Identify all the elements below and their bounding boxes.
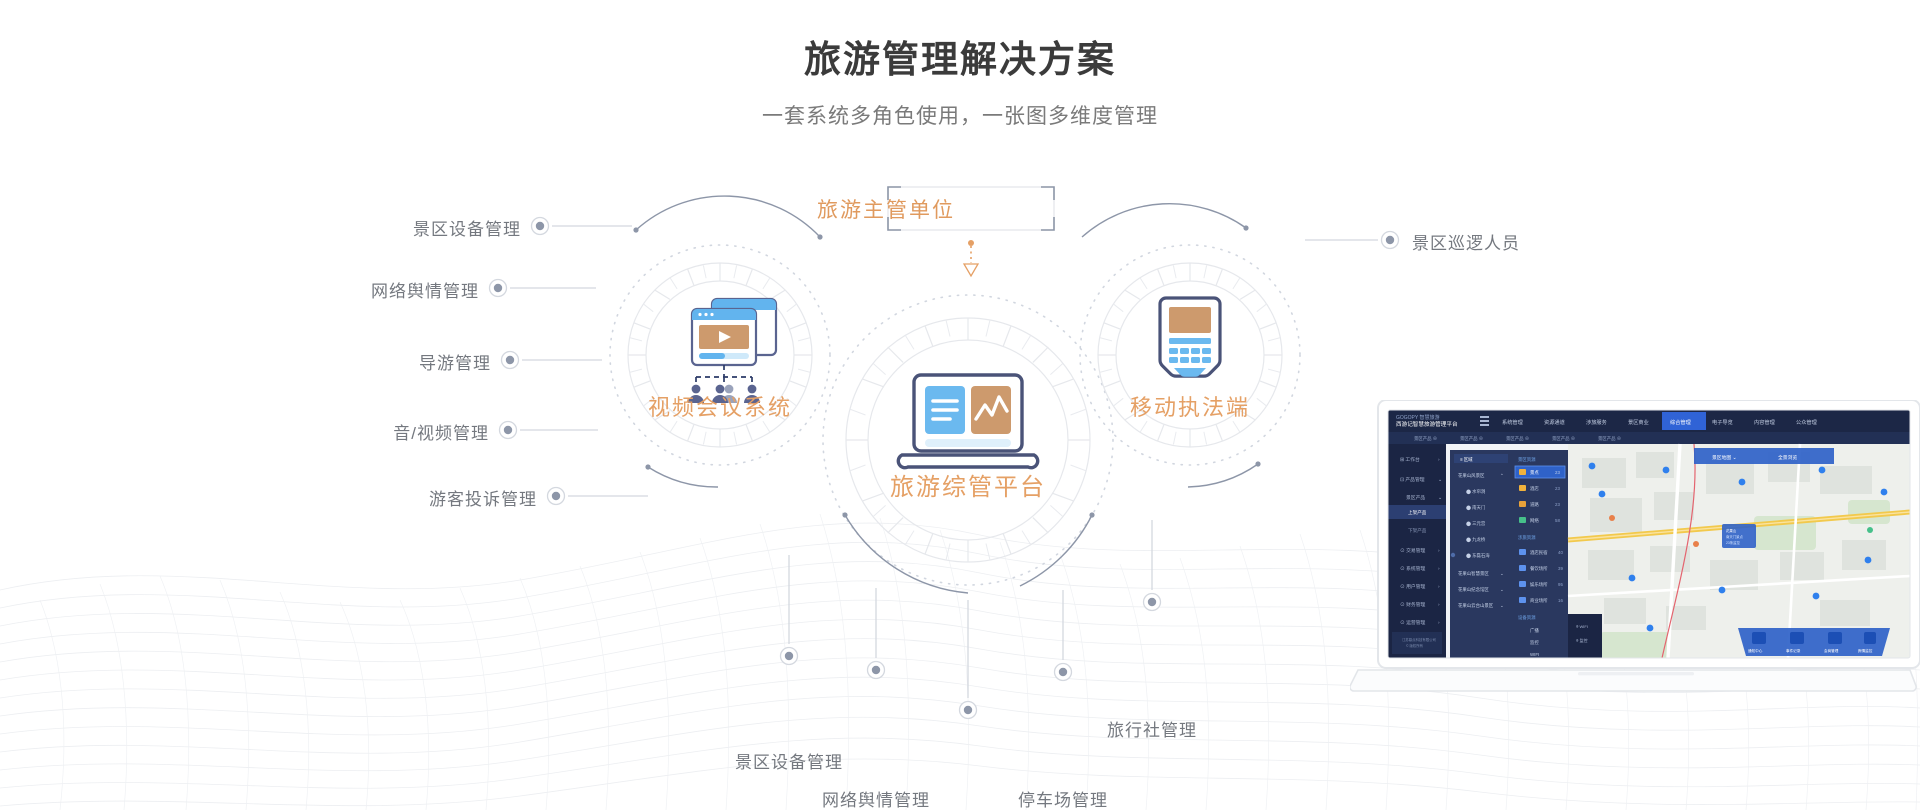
authority-box: 旅游主管单位 (803, 187, 969, 230)
node-title-video: 视频会议系统 (648, 390, 792, 422)
svg-text:景区产品 ⊗: 景区产品 ⊗ (1414, 435, 1437, 442)
svg-text:⬤ 南天门: ⬤ 南天门 (1466, 504, 1485, 511)
svg-text:⌾ 监控: ⌾ 监控 (1576, 637, 1588, 643)
label-bottom-scenic-equipment: 景区设备管理 (735, 748, 843, 773)
svg-text:景区产品 ⊗: 景区产品 ⊗ (1552, 435, 1575, 442)
svg-text:综合管理: 综合管理 (1670, 418, 1692, 426)
svg-text:南天门景点: 南天门景点 (1726, 534, 1744, 539)
svg-text:娱乐场所: 娱乐场所 (1530, 581, 1548, 588)
svg-text:全景浏览: 全景浏览 (1778, 454, 1797, 461)
label-right-patrol-staff: 景区巡逻人员 (1412, 229, 1520, 254)
svg-text:下架产品: 下架产品 (1408, 527, 1427, 534)
svg-text:事件记录: 事件记录 (1786, 648, 1801, 653)
svg-text:涉旅服务: 涉旅服务 (1586, 418, 1607, 426)
poster-canvas: 旅游管理解决方案 一套系统多角色使用，一张图多维度管理 (0, 0, 1920, 810)
svg-text:道路: 道路 (1530, 501, 1539, 508)
svg-text:花果山云台山景区: 花果山云台山景区 (1458, 602, 1494, 609)
svg-text:商业场所: 商业场所 (1530, 597, 1548, 604)
svg-text:资源通道: 资源通道 (1544, 418, 1565, 426)
svg-text:⊙ 运营管理: ⊙ 运营管理 (1400, 619, 1426, 626)
svg-text:23: 23 (1555, 502, 1560, 507)
svg-text:花果山智慧景区: 花果山智慧景区 (1458, 570, 1489, 577)
svg-text:⌄: ⌄ (1500, 571, 1504, 576)
label-left-tour-guide: 导游管理 (419, 349, 491, 374)
svg-text:95: 95 (1558, 582, 1563, 587)
svg-text:江苏鼎点科技有限公司: 江苏鼎点科技有限公司 (1402, 637, 1436, 642)
svg-text:网络: 网络 (1530, 517, 1539, 524)
svg-text:内容管理: 内容管理 (1754, 418, 1776, 426)
svg-text:⌄: ⌄ (1438, 478, 1442, 483)
svg-text:涉旅资源: 涉旅资源 (1518, 534, 1536, 541)
handheld-device-icon (1160, 298, 1220, 377)
svg-text:上架产品: 上架产品 (1408, 509, 1427, 516)
svg-text:40: 40 (1558, 550, 1563, 555)
svg-text:⌄: ⌄ (1438, 496, 1442, 501)
svg-text:WIFI: WIFI (1530, 652, 1539, 657)
svg-text:公众管理: 公众管理 (1796, 418, 1818, 426)
svg-text:⊡ 产品管理: ⊡ 产品管理 (1400, 476, 1425, 483)
svg-text:西游记智慧旅游管理平台: 西游记智慧旅游管理平台 (1396, 420, 1458, 428)
svg-text:⌄: ⌄ (1500, 587, 1504, 592)
svg-text:景区商业: 景区商业 (1628, 418, 1649, 426)
label-left-network-opinion: 网络舆情管理 (371, 277, 479, 302)
svg-text:花果山纪念馆区: 花果山纪念馆区 (1458, 586, 1489, 593)
svg-text:花果山风景区: 花果山风景区 (1458, 472, 1485, 479)
svg-text:景区产品 ⊗: 景区产品 ⊗ (1506, 435, 1529, 442)
svg-text:会商管理: 会商管理 (1824, 648, 1839, 653)
svg-text:⌃: ⌃ (1500, 473, 1504, 478)
svg-text:酒店: 酒店 (1530, 485, 1539, 492)
svg-text:⬤ 三元宫: ⬤ 三元宫 (1466, 520, 1486, 527)
svg-text:景区资源: 景区资源 (1518, 456, 1536, 463)
svg-text:酒店民宿: 酒店民宿 (1530, 549, 1548, 556)
svg-text:58: 58 (1555, 518, 1560, 523)
svg-text:景区产品 ⊗: 景区产品 ⊗ (1598, 435, 1621, 442)
svg-text:⊙ 财务管理: ⊙ 财务管理 (1400, 601, 1426, 608)
svg-text:餐饮场所: 餐饮场所 (1530, 565, 1548, 572)
label-left-tourist-complaint: 游客投诉管理 (429, 485, 537, 510)
authority-label: 旅游主管单位 (817, 194, 955, 224)
bottom-connectors (781, 520, 1161, 719)
svg-text:⬤ 九龙桥: ⬤ 九龙桥 (1466, 536, 1486, 543)
svg-text:© 版权所有: © 版权所有 (1406, 643, 1424, 648)
label-left-scenic-equipment: 景区设备管理 (413, 215, 521, 240)
svg-text:花果山: 花果山 (1726, 528, 1737, 533)
video-window-icon (688, 299, 776, 403)
label-bottom-parking: 停车场管理 (1018, 786, 1108, 810)
svg-text:舆情监控: 舆情监控 (1858, 648, 1873, 653)
svg-text:广播: 广播 (1530, 627, 1539, 634)
left-connectors (490, 218, 649, 505)
svg-text:通知中心: 通知中心 (1748, 648, 1763, 653)
authority-arrow (964, 240, 978, 276)
svg-text:23: 23 (1555, 486, 1560, 491)
node-title-mobile: 移动执法端 (1130, 390, 1250, 422)
svg-text:⌄: ⌄ (1500, 603, 1504, 608)
svg-text:⌾ WIFI: ⌾ WIFI (1576, 624, 1588, 629)
svg-text:23条监控: 23条监控 (1726, 540, 1741, 545)
svg-text:GOGOPY 智慧旅游: GOGOPY 智慧旅游 (1396, 414, 1440, 421)
tourism-dashboard-screenshot: GOGOPY 智慧旅游 西游记智慧旅游管理平台 系统管理 资源通道 涉旅服务 景… (1388, 410, 1910, 658)
label-left-av-management: 音/视频管理 (393, 419, 489, 444)
svg-text:电子导览: 电子导览 (1712, 418, 1733, 426)
node-title-platform: 旅游综管平台 (890, 467, 1046, 502)
svg-text:⊙ 用户管理: ⊙ 用户管理 (1400, 583, 1426, 590)
right-connectors (1305, 232, 1399, 249)
svg-text:16: 16 (1558, 598, 1563, 603)
svg-text:监控: 监控 (1530, 639, 1539, 646)
label-bottom-network-opinion: 网络舆情管理 (822, 786, 930, 810)
svg-text:23: 23 (1555, 470, 1560, 475)
svg-text:景区产品 ⊗: 景区产品 ⊗ (1460, 435, 1483, 442)
laptop-chart-icon (898, 375, 1037, 468)
svg-text:⬤ 东磊石海: ⬤ 东磊石海 (1466, 552, 1490, 559)
label-bottom-travel-agency: 旅行社管理 (1107, 716, 1197, 741)
svg-text:≡ 区域: ≡ 区域 (1460, 456, 1473, 462)
svg-text:⊙ 系统管理: ⊙ 系统管理 (1400, 565, 1426, 572)
svg-text:⊙ 交易管理: ⊙ 交易管理 (1400, 547, 1426, 554)
svg-text:系统管理: 系统管理 (1502, 418, 1524, 426)
svg-text:⬤ 水帘洞: ⬤ 水帘洞 (1466, 488, 1486, 495)
svg-text:⊞ 工作台: ⊞ 工作台 (1400, 456, 1420, 463)
svg-text:景区地图 ⌄: 景区地图 ⌄ (1712, 454, 1737, 461)
svg-text:景区产品: 景区产品 (1406, 494, 1425, 501)
laptop-mockup: GOGOPY 智慧旅游 西游记智慧旅游管理平台 系统管理 资源通道 涉旅服务 景… (1350, 400, 1920, 790)
svg-text:设备资源: 设备资源 (1518, 614, 1536, 621)
svg-text:39: 39 (1558, 566, 1563, 571)
